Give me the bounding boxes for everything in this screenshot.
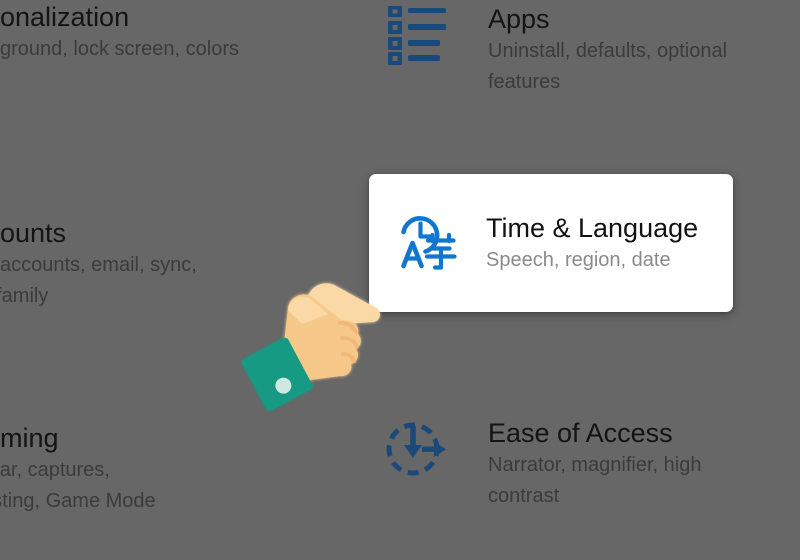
tile-gaming-subtitle-line2: dcasting, Game Mode bbox=[0, 486, 300, 517]
tile-accounts-text: ounts accounts, email, sync, k, family bbox=[0, 216, 300, 312]
tile-apps-subtitle-line1: Uninstall, defaults, optional bbox=[488, 36, 788, 67]
tile-apps-title: Apps bbox=[488, 2, 788, 36]
tile-apps-text: Apps Uninstall, defaults, optional featu… bbox=[488, 2, 788, 98]
tile-gaming-title: ming bbox=[0, 421, 300, 455]
tile-apps-subtitle-line2: features bbox=[488, 67, 788, 98]
tile-personalization-subtitle: ground, lock screen, colors bbox=[0, 34, 380, 65]
tile-ease-of-access-subtitle-line1: Narrator, magnifier, high bbox=[488, 450, 786, 481]
tile-ease-of-access[interactable]: Ease of Access Narrator, magnifier, high… bbox=[386, 416, 786, 512]
settings-home-screen: onalization ground, lock screen, colors bbox=[0, 0, 800, 560]
tile-ease-of-access-subtitle-line2: contrast bbox=[488, 481, 786, 512]
tile-personalization-text: onalization ground, lock screen, colors bbox=[0, 0, 380, 65]
tile-gaming-subtitle-line1: e bar, captures, bbox=[0, 455, 300, 486]
tile-time-and-language[interactable]: Time & Language Speech, region, date bbox=[369, 174, 733, 312]
tile-accounts-title: ounts bbox=[0, 216, 300, 250]
tile-apps[interactable]: Apps Uninstall, defaults, optional featu… bbox=[388, 2, 788, 98]
tile-gaming[interactable]: ming e bar, captures, dcasting, Game Mod… bbox=[0, 421, 300, 517]
tile-gaming-text: ming e bar, captures, dcasting, Game Mod… bbox=[0, 421, 300, 517]
ease-of-access-icon bbox=[386, 418, 450, 480]
tile-accounts-subtitle-line1: accounts, email, sync, bbox=[0, 250, 300, 281]
tile-personalization[interactable]: onalization ground, lock screen, colors bbox=[0, 0, 380, 65]
time-and-language-subtitle: Speech, region, date bbox=[486, 245, 733, 275]
time-language-icon bbox=[391, 210, 457, 276]
time-and-language-text: Time & Language Speech, region, date bbox=[486, 211, 733, 275]
tile-accounts-subtitle-line2: k, family bbox=[0, 281, 300, 312]
tile-personalization-title: onalization bbox=[0, 0, 380, 34]
tile-ease-of-access-title: Ease of Access bbox=[488, 416, 786, 450]
apps-list-icon bbox=[388, 6, 448, 62]
time-and-language-title: Time & Language bbox=[486, 211, 733, 245]
tile-accounts[interactable]: ounts accounts, email, sync, k, family bbox=[0, 216, 300, 312]
tile-ease-of-access-text: Ease of Access Narrator, magnifier, high… bbox=[488, 416, 786, 512]
